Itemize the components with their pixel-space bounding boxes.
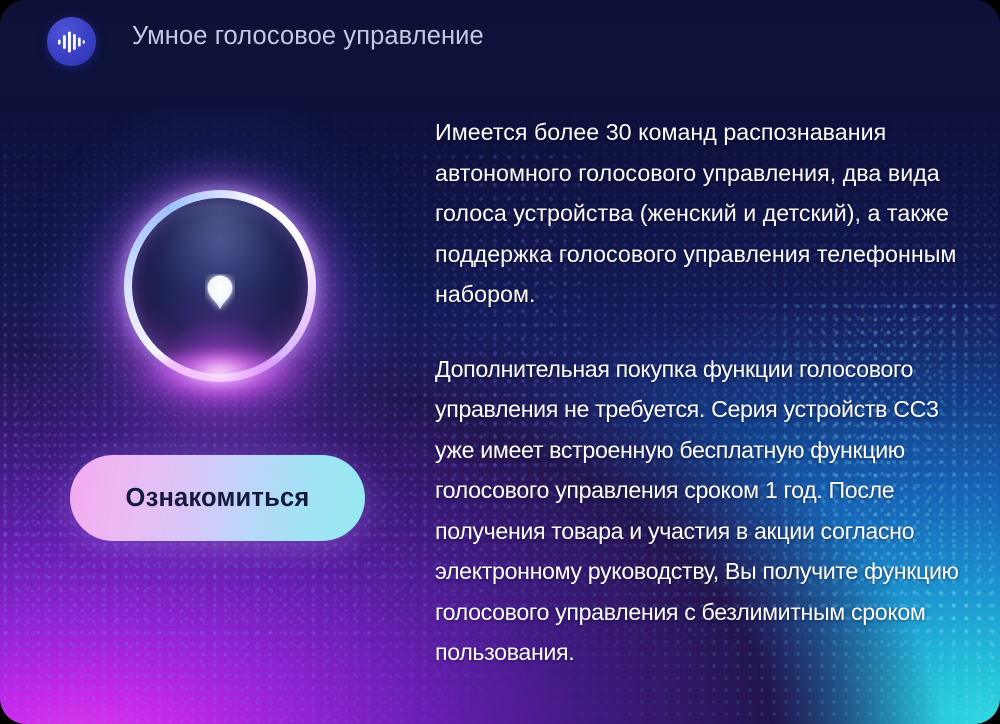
header: Умное голосовое управление bbox=[0, 0, 1000, 96]
voice-pin-icon bbox=[205, 274, 235, 321]
paragraph-purchase-info: Дополнительная покупка функции голосовог… bbox=[435, 349, 959, 673]
voice-waveform-icon bbox=[47, 17, 96, 66]
page-title: Умное голосовое управление bbox=[132, 22, 484, 51]
description-text: Имеется более 30 команд распознавания ав… bbox=[435, 112, 959, 673]
learn-more-button[interactable]: Ознакомиться bbox=[70, 455, 365, 541]
voice-assistant-orb bbox=[124, 190, 316, 382]
paragraph-features: Имеется более 30 команд распознавания ав… bbox=[435, 112, 959, 315]
voice-control-promo-card: Умное голосовое управление bbox=[0, 0, 1000, 724]
orb-under-glow bbox=[134, 352, 306, 408]
